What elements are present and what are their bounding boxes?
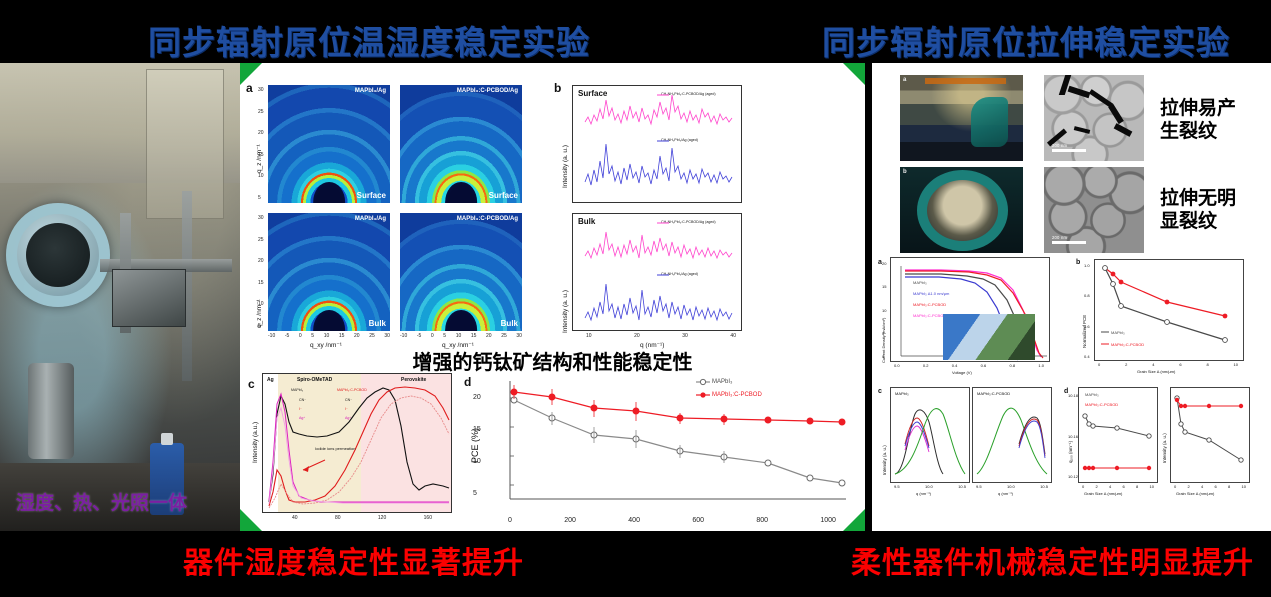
panel-c-legend-cn-left: CN⁻ [299, 398, 306, 402]
title-left-bottom: 器件湿度稳定性显著提升 [183, 538, 524, 582]
giwaxs-tile-1-sample: MAPbI₃/Ag [355, 88, 386, 94]
right-panel-c-title-1: MAPbI₃ [895, 391, 909, 396]
right-panel-a-jv-plot: MAPbI₃ MAPbI₃ Δ1.0 nm/μm MAPbI₃:C-PCBOD … [890, 257, 1050, 362]
right-panel-d-xlabel-right: Grain Size Δ (nm/μm) [1176, 491, 1214, 496]
lab-setup-photo: 湿度、热、光照一体 [0, 63, 240, 531]
right-panel-c-label: c [878, 388, 882, 395]
giwaxs-tile-2: MAPbI₃:C-PCBOD/Ag Surface [400, 85, 522, 203]
giwaxs-tile-4: MAPbI₃:C-PCBOD/Ag Bulk [400, 213, 522, 331]
right-panel-d-right-traces [1171, 388, 1250, 483]
giwaxs-tile-1: MAPbI₃/Ag Surface [268, 85, 390, 203]
giwaxs-tile-2-depth: Surface [489, 191, 518, 200]
photo-cylinder [28, 363, 74, 459]
photo-instrument-box [112, 269, 186, 327]
right-panel-d-right-plot [1170, 387, 1250, 483]
scale-bar-label-1: 200 nm [1052, 143, 1067, 148]
panel-b-bulk-traces [573, 214, 742, 331]
right-panel-d-yticks: 10.12 10.16 10.18 [1068, 393, 1078, 479]
panel-c-ylabel: Intensity (a.u.) [252, 422, 259, 463]
panel-c-region-ag: Ag [267, 377, 274, 383]
photo-chamber-bore [26, 223, 90, 287]
left-photo-caption: 湿度、热、光照一体 [16, 488, 187, 515]
crack-segment [1108, 104, 1124, 124]
panel-d-pce-plot: MAPbI₃ MAPbI₃:C-PCBOD [480, 373, 850, 518]
right-panel-c-ylabel: Intensity (a. u.) [882, 445, 887, 475]
giwaxs-tile-4-sample: MAPbI₃:C-PCBOD/Ag [457, 216, 518, 222]
panel-b-xticks: 10 20 30 40 [586, 333, 736, 339]
right-panel-c-xlabel-right: q (nm⁻¹) [998, 491, 1013, 496]
right-panel-c-xticks-right: 9.5 10.0 10.5 [976, 484, 1048, 489]
panel-c-legend-i-right: I⁻ [345, 407, 348, 411]
slide-root: 同步辐射原位温湿度稳定实验 同步辐射原位拉伸稳定实验 器件湿度稳定性显著提升 柔… [0, 0, 1271, 597]
panel-c-legend-ag-left: Ag⁺ [299, 416, 305, 420]
title-right-bottom: 柔性器件机械稳定性明显提升 [851, 538, 1254, 582]
right-photo-b-label: b [903, 169, 907, 175]
right-panel-c-xticks-left: 9.5 10.0 10.5 [894, 484, 966, 489]
right-panel-a-legend-3: MAPbI₃:C-PCBOD [913, 302, 946, 307]
right-panel-a-xticks: 0.0 0.2 0.4 0.6 0.8 1.0 [894, 363, 1044, 368]
scale-bar [1052, 149, 1086, 152]
right-panel-d-legend-2: MAPbI₃:C-PCBOD [1085, 402, 1118, 407]
panel-d-traces [480, 373, 850, 518]
giwaxs-tile-4-depth: Bulk [501, 319, 518, 328]
title-left-top: 同步辐射原位温湿度稳定实验 [148, 16, 590, 64]
right-photo-a-label: a [903, 77, 906, 83]
flexible-device-inset-photo [943, 314, 1035, 360]
panel-b-bulk-plot: Bulk CH₃NH₃PbI₃:C-PCBOD/Ag (aged) CH₃NH₃… [572, 213, 742, 331]
right-panel-a-legend-2: MAPbI₃ Δ1.0 nm/μm [913, 291, 949, 296]
right-panel-d-legend-1: MAPbI₃ [1085, 392, 1099, 397]
crack-segment [1068, 85, 1091, 98]
corner-accent-bottom-left [240, 509, 262, 531]
crack-segment [1074, 126, 1090, 134]
panel-c-legend-head-1: MAPbI₃ [291, 388, 303, 392]
right-panel-c-right-traces [973, 388, 1052, 483]
right-panel-b-label: b [1076, 259, 1080, 266]
panel-c-legend-ag-right: Ag⁺ [345, 416, 351, 420]
right-figure-board: a b 200 nm 200 nm 拉伸易产 生裂纹 拉伸无明 显裂纹 a Cu… [872, 63, 1271, 531]
right-panel-a-legend-1: MAPbI₃ [913, 280, 927, 285]
panel-d-xticks: 0 200 400 600 800 1000 [508, 517, 836, 524]
scale-bar-label-2: 200 nm [1052, 235, 1067, 240]
corner-accent-bottom-right [843, 509, 865, 531]
panel-a-xticks-left: -10 -5 0 5 10 15 20 25 30 [268, 333, 390, 339]
panel-b-ylabel-top: Intensity (a. u.) [562, 145, 569, 188]
crack-segment [1114, 123, 1133, 137]
panel-d-yticks: 5 10 15 20 [473, 381, 481, 509]
panel-c-xticks: 40 80 120 160 [292, 515, 432, 521]
panel-d-label: d [464, 375, 471, 389]
corner-accent-top-right [843, 63, 865, 85]
giwaxs-tile-2-sample: MAPbI₃:C-PCBOD/Ag [457, 88, 518, 94]
right-text-top: 拉伸易产 生裂纹 [1160, 97, 1236, 143]
right-panel-b-yticks: 0.4 0.6 0.8 1.0 [1084, 263, 1090, 359]
corner-accent-top-left [240, 63, 262, 85]
right-panel-c-left-plot: MAPbI₃ [890, 387, 970, 483]
panel-a-xticks-right: -10 -5 0 5 10 15 20 25 30 [400, 333, 522, 339]
right-panel-d-xticks-right: 0 2 4 6 8 10 [1174, 484, 1246, 489]
panel-d-legend-1: MAPbI₃ [712, 379, 732, 385]
right-panel-b-legend-1: MAPbI₃ [1111, 330, 1125, 335]
sem-image-cracked: 200 nm [1044, 75, 1144, 161]
title-right-top: 同步辐射原位拉伸稳定实验 [822, 16, 1230, 64]
right-panel-c-right-plot: MAPbI₃:C-PCBOD Δ0 nm/μm Δ0.5 nm/μm Δ1.0 … [972, 387, 1052, 483]
panel-b-ylabel-bottom: Intensity (a. u.) [562, 290, 569, 333]
panel-c-traces [263, 374, 452, 513]
right-panel-d-left-plot: MAPbI₃ MAPbI₃:C-PCBOD [1078, 387, 1158, 483]
panel-c-legend-head-2: MAPbI₃:C-PCBOD [337, 388, 367, 392]
photo-ceiling-beam [925, 78, 1006, 84]
panel-c-sims-plot: Ag Spiro-OMeTAD Perovskite MAPbI₃ MAPbI₃… [262, 373, 452, 513]
sem-image-uncracked: 200 nm [1044, 167, 1144, 253]
right-panel-d-xlabel-left: Grain Size Δ (nm/μm) [1084, 491, 1122, 496]
right-panel-b-npce-plot: MAPbI₃ MAPbI₃:C-PCBOD [1094, 259, 1244, 361]
right-panel-b-legend-2: MAPbI₃:C-PCBOD [1111, 342, 1144, 347]
panel-a-yticks-bottom: 5 10 15 20 25 30 [258, 215, 264, 329]
giwaxs-tile-3-depth: Bulk [369, 319, 386, 328]
photo-teal-arm [971, 97, 1008, 147]
giwaxs-tile-3: MAPbI₃/Ag Bulk [268, 213, 390, 331]
right-panel-d-xticks-left: 0 2 4 6 8 10 [1082, 484, 1154, 489]
panel-c-legend-i-left: I⁻ [299, 407, 302, 411]
photo-chamber-window [917, 170, 1008, 251]
right-text-bottom: 拉伸无明 显裂纹 [1160, 187, 1236, 233]
panel-c-label: c [248, 377, 255, 391]
panel-c-region-spiro: Spiro-OMeTAD [297, 377, 332, 383]
right-panel-b-xlabel: Grain Size Δ (nm/μm) [1137, 369, 1175, 374]
right-panel-d-ylabel-right: Intensity (a. u.) [1162, 433, 1167, 463]
center-figure-board: a q_z /nm⁻¹ q_z /nm⁻¹ MAPbI₃/Ag Surface … [240, 63, 865, 531]
panel-a-yticks-top: 5 10 15 20 25 30 [258, 87, 264, 201]
right-panel-c-title-2: MAPbI₃:C-PCBOD [977, 391, 1010, 396]
panel-c-legend-cn-right: CN⁻ [345, 398, 352, 402]
panel-b-surface-traces [573, 86, 742, 203]
right-panel-c-left-traces [891, 388, 970, 483]
stretch-setup-photo-b [900, 167, 1023, 253]
panel-b-label: b [554, 81, 561, 95]
right-panel-a-yticks: 0 5 10 15 20 [882, 261, 886, 359]
right-panel-a-xlabel: Voltage (V) [952, 370, 972, 375]
right-panel-c-xlabel-left: q (nm⁻¹) [916, 491, 931, 496]
giwaxs-tile-1-depth: Surface [357, 191, 386, 200]
panel-c-region-pvk: Perovskite [401, 377, 426, 383]
panel-b-surface-plot: Surface CH₃NH₃PbI₃:C-PCBOD/Ag (aged) CH₃… [572, 85, 742, 203]
stretch-setup-photo-a [900, 75, 1023, 161]
scale-bar [1052, 241, 1086, 244]
panel-d-legend-2: MAPbI₃:C-PCBOD [712, 392, 762, 398]
right-panel-b-xticks: 0 2 4 6 8 10 [1098, 362, 1238, 367]
giwaxs-tile-3-sample: MAPbI₃/Ag [355, 216, 386, 222]
center-middle-caption: 增强的钙钛矿结构和性能稳定性 [240, 346, 865, 375]
panel-c-annotation: Iodide ions permeation [315, 446, 361, 452]
